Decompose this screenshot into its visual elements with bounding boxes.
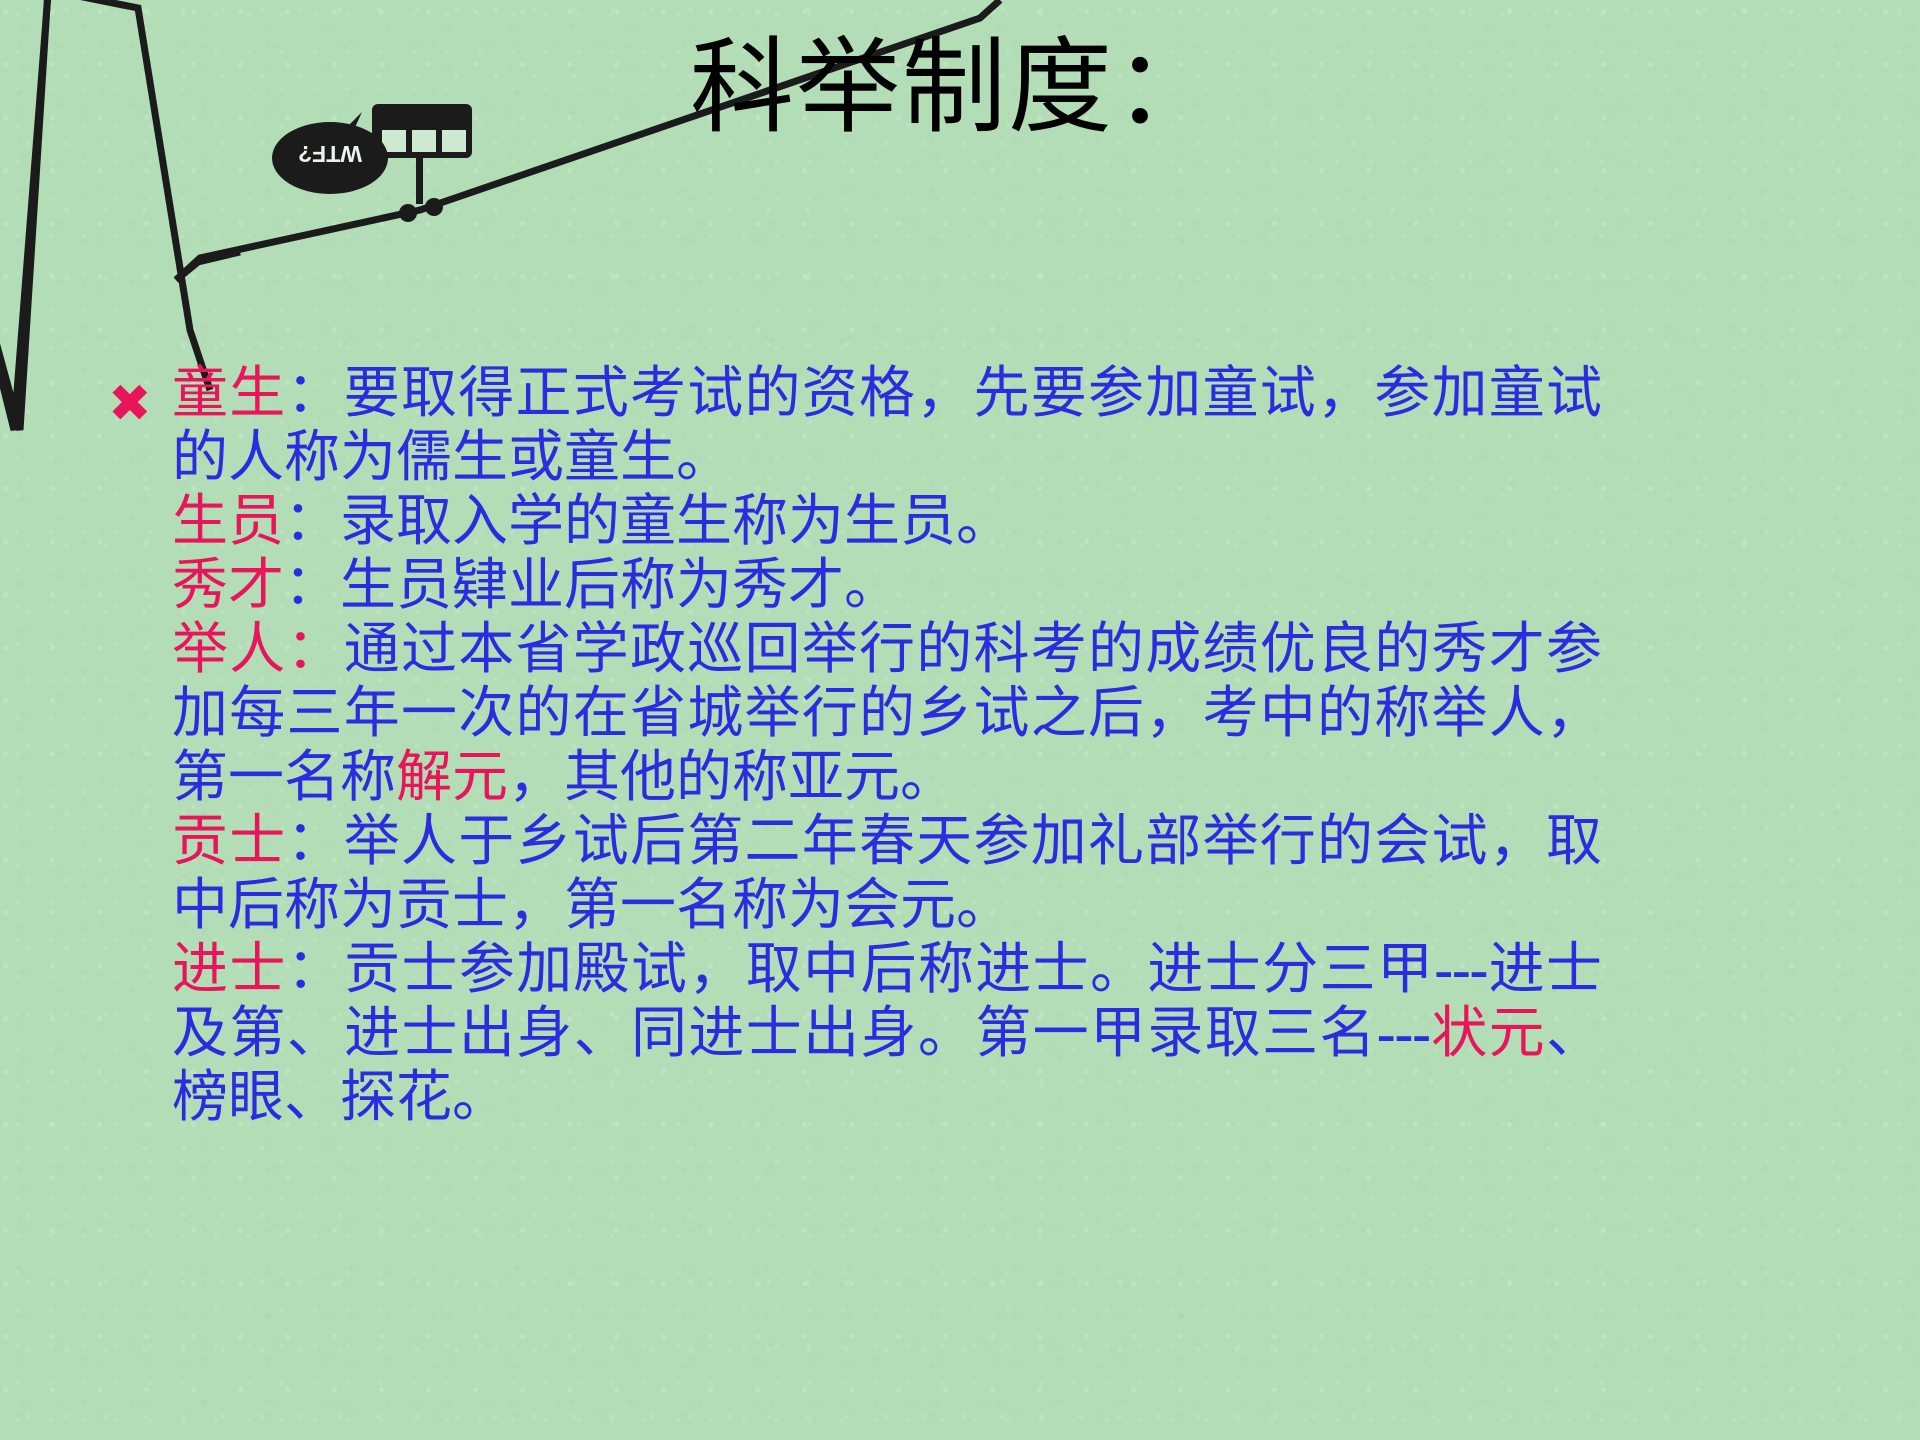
entry-text: 举人于乡试后第二年春天参加礼部举行的会试，取中后称为贡士，第一名称为会元。 <box>172 811 1602 937</box>
bullet-x-icon: ✖ <box>108 378 152 430</box>
entry-shengyuan: 生员：录取入学的童生称为生员。 <box>172 490 1602 554</box>
term-label: 秀才 <box>172 555 284 617</box>
entry-gongshi: 贡士：举人于乡试后第二年春天参加礼部举行的会试，取中后称为贡士，第一名称为会元。 <box>172 810 1602 938</box>
entry-text: 贡士参加殿试，取中后称进士。进士分三甲 <box>344 939 1434 1001</box>
diagonal-slope-line-left <box>176 252 240 280</box>
entry-text: 生员肄业后称为秀才。 <box>340 555 900 617</box>
entry-xiucai: 秀才：生员肄业后称为秀才。 <box>172 554 1602 618</box>
term-colon: ： <box>287 363 344 425</box>
term-colon: ： <box>287 939 344 1001</box>
entry-text: 要取得正式考试的资格，先要参加童试，参加童试的人称为儒生或童生。 <box>172 363 1602 489</box>
term-colon: ： <box>287 619 344 681</box>
entry-dash-2: --- <box>1377 1003 1430 1065</box>
zigzag-line-lower <box>0 0 48 430</box>
entry-dash-1: --- <box>1434 939 1487 1001</box>
billboard-sign-icon <box>372 104 472 222</box>
term-label: 贡士 <box>172 811 287 873</box>
term-label: 举人 <box>172 619 287 681</box>
entry-tongsheng: 童生：要取得正式考试的资格，先要参加童试，参加童试的人称为儒生或童生。 <box>172 362 1602 490</box>
presentation-slide: WTF? 科举制度： ✖ 童生：要取得正式考试的资格，先要参加童试，参加童试的人… <box>0 0 1920 1440</box>
entry-juren: 举人：通过本省学政巡回举行的科考的成绩优良的秀才参加每三年一次的在省城举行的乡试… <box>172 618 1602 810</box>
term-colon: ： <box>287 811 344 873</box>
entry-highlight: 状元 <box>1430 1003 1546 1065</box>
term-colon: ： <box>284 491 340 553</box>
slide-body: 童生：要取得正式考试的资格，先要参加童试，参加童试的人称为儒生或童生。 生员：录… <box>172 362 1602 1130</box>
slide-title: 科举制度： <box>690 28 1220 151</box>
term-label: 生员 <box>172 491 284 553</box>
speech-bubble-icon: WTF? <box>272 112 388 194</box>
entry-text: 录取入学的童生称为生员。 <box>340 491 1012 553</box>
entry-highlight: 解元 <box>396 747 508 809</box>
term-label: 童生 <box>172 363 287 425</box>
entry-jinshi: 进士：贡士参加殿试，取中后称进士。进士分三甲---进士及第、进士出身、同进士出身… <box>172 938 1602 1130</box>
speech-bubble-text: WTF? <box>298 141 362 167</box>
entry-text-after: ，其他的称亚元。 <box>508 747 956 809</box>
term-colon: ： <box>284 555 340 617</box>
term-label: 进士 <box>172 939 287 1001</box>
